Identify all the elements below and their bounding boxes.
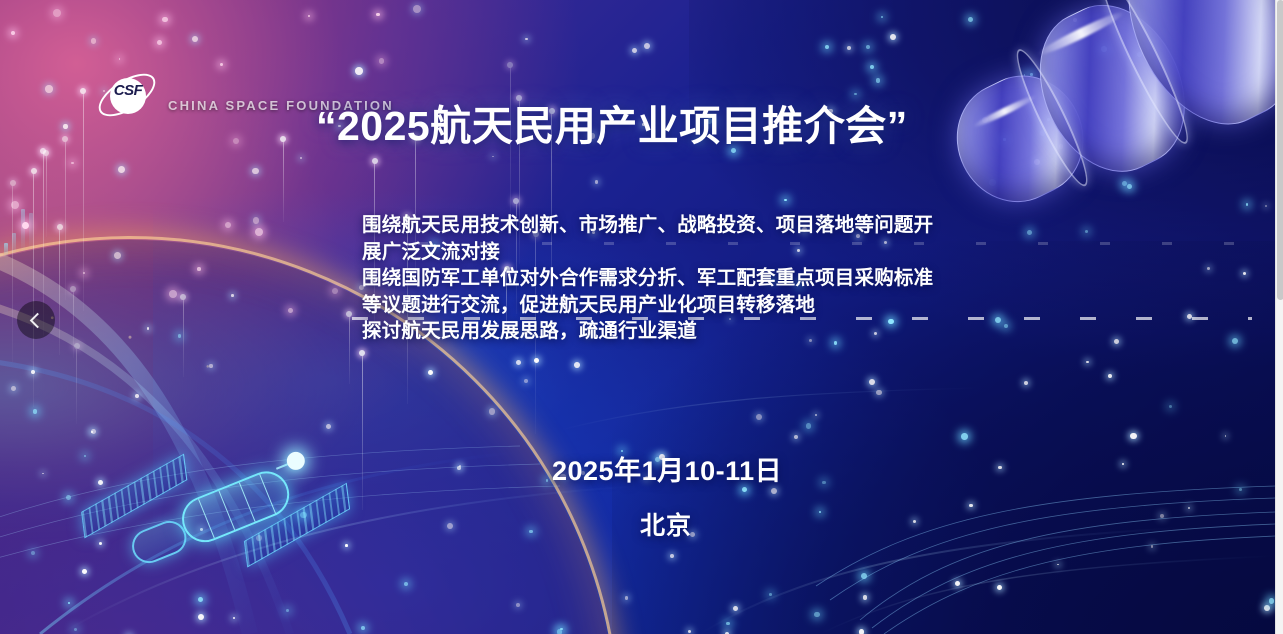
slide-body-line: 围绕航天民用技术创新、市场推广、战略投资、项目落地等问题开	[362, 212, 962, 239]
hero-carousel[interactable]: CSF CHINA SPACE FOUNDATION “2025航天民用产业项目…	[0, 0, 1283, 634]
slide-body-line: 围绕国防军工单位对外合作需求分折、军工配套重点项目采购标准	[362, 265, 962, 292]
slide-location: 北京	[640, 506, 692, 542]
slide-title: “2025航天民用产业项目推介会”	[316, 92, 908, 152]
slide-body-line: 展广泛文流对接	[362, 239, 962, 266]
slide-body-line: 等议题进行交流，促进航天民用产业化项目转移落地	[362, 292, 962, 319]
page-scrollbar-thumb[interactable]	[1277, 0, 1283, 300]
slide-date: 2025年1月10-11日	[552, 449, 782, 488]
slide-body-line: 探讨航天民用发展思路，疏通行业渠道	[362, 318, 962, 345]
page-scrollbar[interactable]	[1275, 0, 1283, 634]
carousel-slide: CSF CHINA SPACE FOUNDATION “2025航天民用产业项目…	[0, 0, 1275, 634]
slide-body-text: 围绕航天民用技术创新、市场推广、战略投资、项目落地等问题开 展广泛文流对接 围绕…	[362, 212, 962, 345]
logo-orbit-ring	[92, 65, 162, 124]
csf-globe-orbit-logo-icon: CSF	[96, 68, 158, 126]
satellite-antenna-dish	[284, 449, 307, 472]
carousel-prev-button[interactable]	[17, 301, 55, 339]
chevron-left-icon	[30, 312, 46, 328]
